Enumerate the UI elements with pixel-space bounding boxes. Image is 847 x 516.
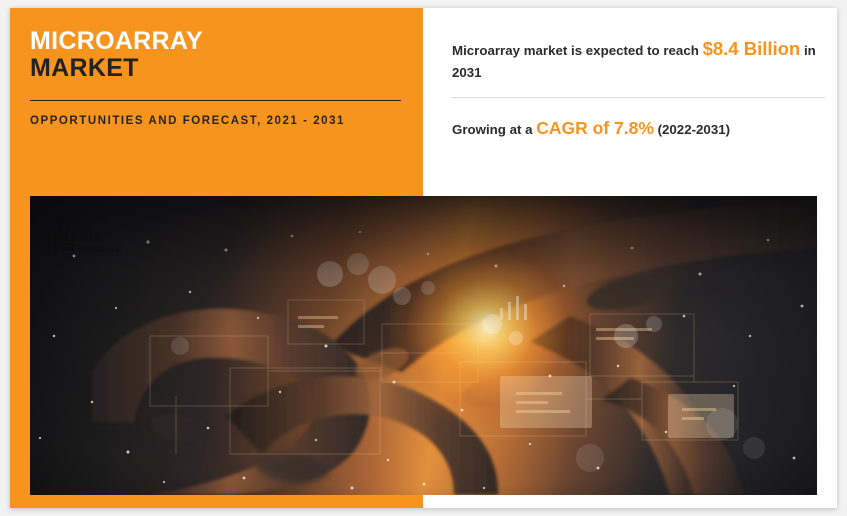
title-divider <box>30 100 401 101</box>
report-card: MICROARRAY MARKET OPPORTUNITIES AND FORE… <box>10 8 837 508</box>
stat-reach-value: $8.4 Billion <box>703 38 801 59</box>
stat-reach-lead: Microarray market is expected to reach <box>452 43 699 58</box>
stat-cagr-lead: Growing at a <box>452 122 533 137</box>
allied-market-research-logo: Allied Market Research <box>46 216 142 258</box>
hero-image: Allied Market Research <box>30 196 817 495</box>
stat-cagr-trail: (2022-2031) <box>658 122 730 137</box>
stat-cagr: Growing at a CAGR of 7.8% (2022-2031) <box>452 116 827 141</box>
page-title: MICROARRAY MARKET <box>30 28 402 82</box>
report-subtitle: OPPORTUNITIES AND FORECAST, 2021 - 2031 <box>30 113 408 130</box>
stat-cagr-value: CAGR of 7.8% <box>536 118 654 138</box>
stat-market-reach: Microarray market is expected to reach $… <box>452 36 827 82</box>
title-line-primary: MICROARRAY <box>30 28 402 55</box>
stats-divider <box>451 97 825 98</box>
hero-vignette <box>30 196 817 495</box>
title-line-secondary: MARKET <box>30 55 402 82</box>
logo-line-3: Research <box>77 243 122 255</box>
